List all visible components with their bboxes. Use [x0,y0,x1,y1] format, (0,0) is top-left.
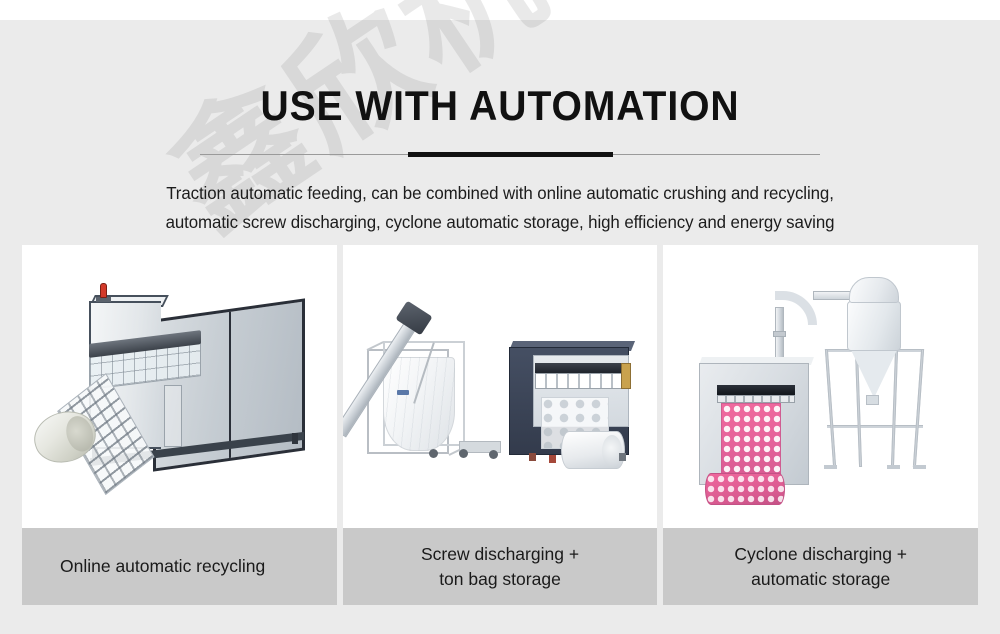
cyclone-pipe-clamp [773,331,786,337]
stand-foot [887,465,900,469]
ton-bag-folds [383,357,455,451]
photo-screw-discharging-ton-bag [343,245,658,528]
card-caption-cyclone-discharging: Cyclone discharging + automatic storage [663,528,978,605]
stand-leg [913,349,924,467]
product-card-screw-discharging[interactable]: Screw discharging + ton bag storage [343,245,658,605]
bubble-film-coil [561,431,625,469]
caption-line-1: Online automatic recycling [60,556,265,576]
cyclone-separator-top [849,277,899,303]
card-caption-online-recycling: Online automatic recycling [22,528,337,605]
cart-wheel [429,449,438,458]
enclosure-mullion [229,312,231,458]
caption-line-1: Cyclone discharging + [734,542,907,567]
header: USE WITH AUTOMATION Traction automatic f… [0,20,1000,238]
photo-cyclone-discharging-storage [663,245,978,528]
machine-leg-right [292,433,298,444]
product-card-list: Online automatic recycling [22,245,978,605]
banner-page: USE WITH AUTOMATION Traction automatic f… [0,0,1000,634]
stand-rail [827,425,923,428]
machine-roller-set [717,395,795,403]
subtitle: Traction automatic feeding, can be combi… [18,179,983,238]
ton-bag-label [397,390,409,395]
card-caption-screw-discharging: Screw discharging + ton bag storage [343,528,658,605]
machine-cutter-bar [535,363,625,373]
product-card-online-recycling[interactable]: Online automatic recycling [22,245,337,605]
cyclone-discharge-outlet [866,395,879,405]
machine-foot [529,453,536,461]
subtitle-line-1: Traction automatic feeding, can be combi… [18,179,983,208]
stand-foot [824,465,837,469]
page-title: USE WITH AUTOMATION [35,85,965,127]
stand-foot [913,465,926,469]
product-card-cyclone-discharging[interactable]: Cyclone discharging + automatic storage [663,245,978,605]
machine-foot [549,455,556,463]
machine-cutter-slot [717,385,795,395]
caption-line-2: ton bag storage [421,567,579,592]
stand-leg [825,349,836,467]
divider-accent-bar [408,152,613,157]
cart-wheel [459,449,468,458]
photo-online-automatic-recycling [22,245,337,528]
pink-bubble-film-roll [705,473,785,505]
caption-line-1: Screw discharging + [421,542,579,567]
title-divider [0,151,1000,159]
caption-line-2: automatic storage [734,567,907,592]
cyclone-separator-cone [851,350,897,398]
subtitle-line-2: automatic screw discharging, cyclone aut… [18,208,983,237]
cart-wheel [489,450,498,459]
machine-foot [619,453,626,461]
cyclone-separator-body [847,301,901,351]
machine-roller-set [535,373,625,389]
machine-control-panel [621,363,631,389]
warning-lamp-icon [100,283,107,298]
machine-access-door [164,385,182,447]
